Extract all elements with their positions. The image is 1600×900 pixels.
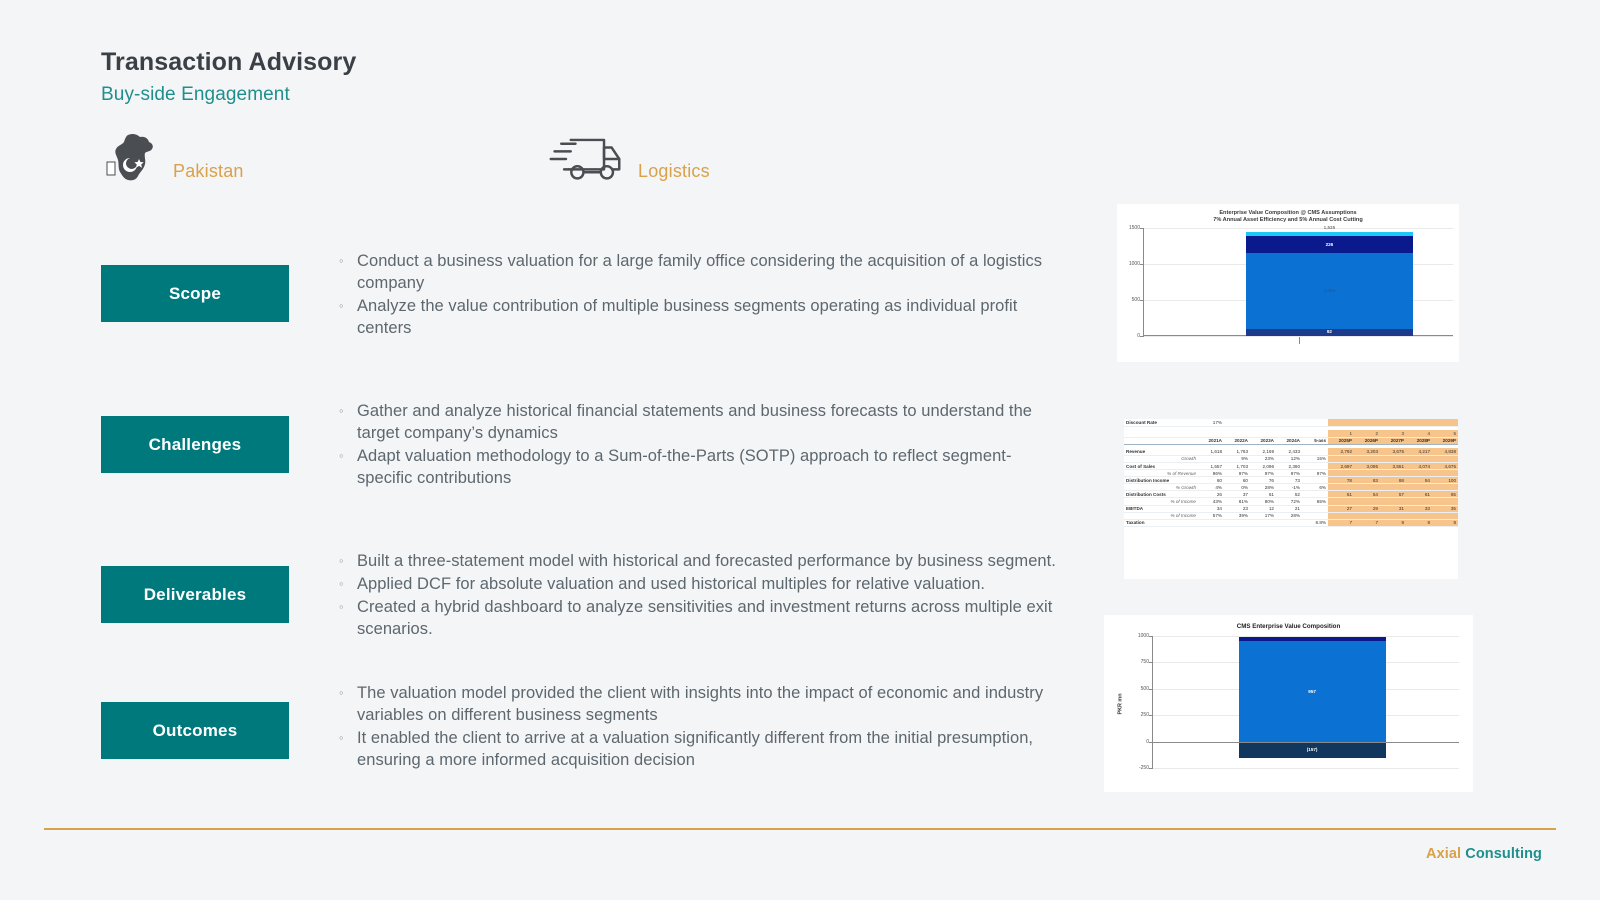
meta-industry: Logistics <box>546 126 710 190</box>
table-cell <box>1406 498 1432 505</box>
table-cell: 6% <box>1302 484 1328 491</box>
brand-logo-second: Consulting <box>1465 846 1542 862</box>
chart-title-line1: Enterprise Value Composition @ CMS Assum… <box>1117 210 1459 217</box>
table-cell: 2,169 <box>1250 448 1276 455</box>
table: Discount Rate17%123452021A2022A2023A2024… <box>1124 419 1458 527</box>
x-axis-tick <box>1299 336 1300 344</box>
y-axis-tick-label: 500 <box>1132 297 1140 303</box>
y-axis-tick-mark <box>1149 636 1153 637</box>
gridline <box>1144 336 1453 337</box>
row-header: % Growth <box>1124 484 1198 491</box>
table-cell <box>1224 430 1250 437</box>
table-row: % of Income43%61%80%72%65% <box>1124 498 1458 505</box>
page-header: Transaction Advisory Buy-side Engagement <box>101 48 356 106</box>
table-row: % of Income57%39%17%28% <box>1124 512 1458 519</box>
bullet-icon: ◦ <box>339 250 357 272</box>
table-cell: 1 <box>1328 430 1354 437</box>
table-cell: 78 <box>1328 477 1354 484</box>
table-cell: 57% <box>1198 512 1224 519</box>
table-cell: 8.8% <box>1302 519 1328 526</box>
table-cell: 61 <box>1406 491 1432 498</box>
table-cell: 97% <box>1276 470 1302 477</box>
section-tag-outcomes[interactable]: Outcomes <box>101 702 289 759</box>
table-row: Distribution Costs263761525154576165 <box>1124 491 1458 498</box>
bullet-text: Applied DCF for absolute valuation and u… <box>357 573 985 595</box>
table-cell: 2,096 <box>1250 462 1276 469</box>
table-cell: 9% <box>1224 455 1250 462</box>
table-row: EBITDA342312212729313335 <box>1124 505 1458 512</box>
table-cell: 88 <box>1380 477 1406 484</box>
table-cell: 1,618 <box>1198 448 1224 455</box>
table-cell: 2,360 <box>1276 462 1302 469</box>
bar-segment-label: 92 <box>1327 329 1332 334</box>
y-axis-tick-label: 1000 <box>1129 261 1140 267</box>
table-cell <box>1302 448 1328 455</box>
table-cell: 96% <box>1198 470 1224 477</box>
y-axis-ticks: -25002505007501000 <box>1126 636 1152 768</box>
page-title: Transaction Advisory <box>101 48 356 77</box>
section-bullets-deliverables: ◦ Built a three-statement model with his… <box>339 550 1061 641</box>
table-cell: 3 <box>1380 430 1406 437</box>
bullet-text: The valuation model provided the client … <box>357 682 1061 726</box>
bullet-text: It enabled the client to arrive at a val… <box>357 727 1061 771</box>
table-cell: 83 <box>1354 477 1380 484</box>
gridline <box>1153 768 1459 769</box>
table-cell: 4,074 <box>1406 462 1432 469</box>
row-header: % of Income <box>1124 498 1198 505</box>
column-header: 2027P <box>1380 437 1406 444</box>
table-cell: 3,095 <box>1354 462 1380 469</box>
bar-segment[interactable]: 226 <box>1246 236 1413 252</box>
table-cell: 28% <box>1276 512 1302 519</box>
table-cell <box>1354 419 1380 426</box>
y-axis-tick-label: -250 <box>1139 765 1149 771</box>
y-axis-tick-mark <box>1140 228 1144 229</box>
list-item: ◦ Adapt valuation methodology to a Sum-o… <box>339 445 1061 489</box>
y-axis-tick-label: 750 <box>1141 659 1149 665</box>
bullet-text: Analyze the value contribution of multip… <box>357 295 1061 339</box>
table-cell <box>1276 430 1302 437</box>
y-axis-tick-mark <box>1149 715 1153 716</box>
table-cell: 76 <box>1250 477 1276 484</box>
bar-segment-label: 957 <box>1308 689 1316 694</box>
table-cell <box>1328 512 1354 519</box>
table-cell: 8 <box>1432 519 1458 526</box>
table-cell: -1% <box>1276 484 1302 491</box>
table-cell <box>1302 491 1328 498</box>
table-cell: 27 <box>1328 505 1354 512</box>
table-row: Discount Rate17% <box>1124 419 1458 426</box>
table-cell: 7 <box>1354 519 1380 526</box>
y-axis-tick-mark <box>1140 264 1144 265</box>
table-cell <box>1276 519 1302 526</box>
table-cell: 65 <box>1432 491 1458 498</box>
bullet-icon: ◦ <box>339 727 357 749</box>
table-cell <box>1354 512 1380 519</box>
table-cell: 3,203 <box>1354 448 1380 455</box>
table-cell: 60 <box>1224 477 1250 484</box>
table-cell <box>1302 462 1328 469</box>
table-cell: 29 <box>1354 505 1380 512</box>
table-cell: 8 <box>1380 519 1406 526</box>
table-cell: 1,763 <box>1224 448 1250 455</box>
table-cell <box>1432 470 1458 477</box>
table-cell: 61% <box>1224 498 1250 505</box>
table-row: Growth9%23%12%15% <box>1124 455 1458 462</box>
table-cell <box>1406 419 1432 426</box>
bar-segment[interactable]: 1,066 <box>1246 253 1413 330</box>
page-subtitle: Buy-side Engagement <box>101 84 356 106</box>
table-cell: 80% <box>1250 498 1276 505</box>
column-header: 2028P <box>1406 437 1432 444</box>
meta-country: Pakistan <box>101 126 244 190</box>
list-item: ◦ Conduct a business valuation for a lar… <box>339 250 1061 294</box>
table-cell <box>1354 470 1380 477</box>
table-cell: 17% <box>1250 512 1276 519</box>
table-cell: 34 <box>1198 505 1224 512</box>
table-cell: 33 <box>1406 505 1432 512</box>
table-cell: 2,433 <box>1276 448 1302 455</box>
table-cell: 7 <box>1328 519 1354 526</box>
y-axis-tick-label: 250 <box>1141 712 1149 718</box>
chart-subtitle-line2: 7% Annual Asset Efficiency and 5% Annual… <box>1117 217 1459 224</box>
engagement-meta-row: Pakistan Logistics <box>101 126 1001 190</box>
table-cell <box>1198 455 1224 462</box>
slide-root: Transaction Advisory Buy-side Engagement… <box>0 0 1600 900</box>
bullet-text: Gather and analyze historical financial … <box>357 400 1061 444</box>
bar-segment-label: 226 <box>1326 242 1334 247</box>
bar-segment[interactable]: (157) <box>1239 742 1386 759</box>
chart-enterprise-value-cms-assumptions[interactable]: Enterprise Value Composition @ CMS Assum… <box>1117 204 1459 362</box>
zero-line <box>1153 742 1459 743</box>
section-bullets-challenges: ◦ Gather and analyze historical financia… <box>339 400 1061 490</box>
meta-country-label: Pakistan <box>173 161 244 182</box>
bullet-icon: ◦ <box>339 445 357 467</box>
table-cell: 4,675 <box>1432 462 1458 469</box>
table-cell: 15% <box>1302 455 1328 462</box>
table-cell <box>1354 484 1380 491</box>
bullet-icon: ◦ <box>339 400 357 422</box>
bullet-text: Built a three-statement model with histo… <box>357 550 1056 572</box>
stacked-bar[interactable]: 921,0662261,525 <box>1246 228 1413 336</box>
y-axis-tick-mark <box>1149 689 1153 690</box>
table-cell: 12% <box>1276 455 1302 462</box>
table-cell <box>1432 498 1458 505</box>
table-cell <box>1328 419 1354 426</box>
table-cell <box>1380 512 1406 519</box>
table-cell <box>1432 419 1458 426</box>
column-header: 2025P <box>1328 437 1354 444</box>
table-cell: 52 <box>1276 491 1302 498</box>
bullet-icon: ◦ <box>339 573 357 595</box>
row-header: EBITDA <box>1124 505 1198 512</box>
table-cell <box>1198 430 1224 437</box>
table-cell <box>1328 470 1354 477</box>
table-cell: 97% <box>1302 470 1328 477</box>
chart-plot-wrapper: -25002505007501000 (157)957 <box>1126 636 1465 776</box>
y-axis-label: PKR mn <box>1117 693 1123 714</box>
table-cell <box>1406 484 1432 491</box>
bar-segment[interactable]: 957 <box>1239 641 1386 742</box>
y-axis-tick-label: 1500 <box>1129 225 1140 231</box>
discount-rate-label: Discount Rate <box>1124 419 1198 426</box>
section-tag-deliverables[interactable]: Deliverables <box>101 566 289 623</box>
stacked-bar[interactable]: (157)957 <box>1239 636 1386 768</box>
chart-plot-wrapper: 050010001500 921,0662261,525 <box>1117 228 1459 346</box>
table-cell: 61 <box>1250 491 1276 498</box>
table-row: % of Revenue96%97%97%97%97% <box>1124 470 1458 477</box>
list-item: ◦ It enabled the client to arrive at a v… <box>339 727 1061 771</box>
table-cell <box>1380 455 1406 462</box>
chart-title: Enterprise Value Composition @ CMS Assum… <box>1117 204 1459 224</box>
table-cell: 2,792 <box>1328 448 1354 455</box>
table-cell: 1,557 <box>1198 462 1224 469</box>
table-cell: 28% <box>1250 484 1276 491</box>
bar-segment-label: 1,066 <box>1324 288 1336 293</box>
table-cell <box>1380 484 1406 491</box>
table-cell <box>1406 470 1432 477</box>
row-header: Taxation <box>1124 519 1198 526</box>
table-cell: 0% <box>1224 484 1250 491</box>
y-axis-tick-mark <box>1140 300 1144 301</box>
column-header: 2024A <box>1276 437 1302 444</box>
table-cell <box>1380 419 1406 426</box>
table-cell: 73 <box>1276 477 1302 484</box>
table-row: Taxation8.8%77888 <box>1124 519 1458 526</box>
table-row: Cost of Sales1,5571,7032,0962,3602,6973,… <box>1124 462 1458 469</box>
table-cell: 43% <box>1198 498 1224 505</box>
section-bullets-outcomes: ◦ The valuation model provided the clien… <box>339 682 1061 772</box>
row-header: Distribution Income <box>1124 477 1198 484</box>
table-cell <box>1380 498 1406 505</box>
table-cell <box>1302 419 1328 426</box>
column-header: 2023A <box>1250 437 1276 444</box>
y-axis-tick-label: 1000 <box>1138 633 1149 639</box>
y-axis-tick-label: 500 <box>1141 686 1149 692</box>
table-cell: 4,838 <box>1432 448 1458 455</box>
table-cell <box>1432 455 1458 462</box>
column-header <box>1124 437 1198 444</box>
y-axis-tick-mark <box>1149 768 1153 769</box>
bar-segment[interactable] <box>1239 637 1386 640</box>
table-header-row: 2021A2022A2023A2024A5-ass2025P2026P2027P… <box>1124 437 1458 444</box>
bullet-icon: ◦ <box>339 550 357 572</box>
table-cell: 100 <box>1432 477 1458 484</box>
table-cell <box>1406 512 1432 519</box>
table-row: Distribution Income6060767378838894100 <box>1124 477 1458 484</box>
table-cell <box>1250 430 1276 437</box>
brand-logo: Axial Consulting <box>1426 846 1542 862</box>
table-cell <box>1328 455 1354 462</box>
table-cell: 37 <box>1224 491 1250 498</box>
list-item: ◦ Created a hybrid dashboard to analyze … <box>339 596 1061 640</box>
list-item: ◦ The valuation model provided the clien… <box>339 682 1061 726</box>
y-axis-ticks: 050010001500 <box>1117 228 1143 336</box>
table-cell: 3,675 <box>1380 448 1406 455</box>
table-cell <box>1198 519 1224 526</box>
table-cell <box>1250 519 1276 526</box>
bar-segment[interactable]: 92 <box>1246 329 1413 336</box>
table-cell <box>1276 419 1302 426</box>
table-cell: 26 <box>1198 491 1224 498</box>
table-row: Revenue1,6181,7632,1692,4332,7923,2033,6… <box>1124 448 1458 455</box>
row-header: % of Income <box>1124 512 1198 519</box>
bar-segment[interactable] <box>1246 232 1413 236</box>
column-header: 5-ass <box>1302 437 1328 444</box>
list-item: ◦ Built a three-statement model with his… <box>339 550 1061 572</box>
table-cell: 5 <box>1432 430 1458 437</box>
list-item: ◦ Gather and analyze historical financia… <box>339 400 1061 444</box>
table-cell <box>1328 484 1354 491</box>
row-header: Distribution Costs <box>1124 491 1198 498</box>
table-index-row: 12345 <box>1124 430 1458 437</box>
table-cell: 8 <box>1406 519 1432 526</box>
table-cell <box>1328 498 1354 505</box>
y-axis-tick-mark <box>1140 336 1144 337</box>
table-cell <box>1302 505 1328 512</box>
column-header: 2022A <box>1224 437 1250 444</box>
table-cell <box>1302 430 1328 437</box>
table-cell: 57 <box>1380 491 1406 498</box>
financial-model-table[interactable]: Discount Rate17%123452021A2022A2023A2024… <box>1124 419 1458 579</box>
y-axis-tick-mark <box>1149 662 1153 663</box>
plot-area: (157)957 <box>1153 636 1459 768</box>
table-cell: 3,551 <box>1380 462 1406 469</box>
footer-divider <box>44 828 1556 830</box>
row-header: % of Revenue <box>1124 470 1198 477</box>
table-row: % Growth4%0%28%-1%6% <box>1124 484 1458 491</box>
column-header: 2026P <box>1354 437 1380 444</box>
column-header: 2021A <box>1198 437 1224 444</box>
chart-title: CMS Enterprise Value Composition <box>1104 615 1473 630</box>
table-cell <box>1432 484 1458 491</box>
table-cell: 21 <box>1276 505 1302 512</box>
meta-industry-label: Logistics <box>638 161 710 182</box>
table-cell: 51 <box>1328 491 1354 498</box>
table-cell <box>1432 512 1458 519</box>
bar-segment-label: (157) <box>1307 747 1318 752</box>
section-tag-challenges[interactable]: Challenges <box>101 416 289 473</box>
column-header: 2029P <box>1432 437 1458 444</box>
delivery-truck-icon <box>546 127 624 189</box>
table-cell: 4% <box>1198 484 1224 491</box>
row-header: Growth <box>1124 455 1198 462</box>
table-cell <box>1302 512 1328 519</box>
table-cell: 39% <box>1224 512 1250 519</box>
chart-cms-enterprise-value-composition[interactable]: CMS Enterprise Value Composition PKR mn … <box>1104 615 1473 792</box>
table-cell <box>1224 519 1250 526</box>
bullet-text: Adapt valuation methodology to a Sum-of-… <box>357 445 1061 489</box>
table-cell <box>1354 498 1380 505</box>
row-header: Revenue <box>1124 448 1198 455</box>
section-bullets-scope: ◦ Conduct a business valuation for a lar… <box>339 250 1061 340</box>
table-cell: 2 <box>1354 430 1380 437</box>
brand-logo-first: Axial <box>1426 846 1461 862</box>
table-cell: 4,217 <box>1406 448 1432 455</box>
bar-total-label: 1,525 <box>1246 225 1413 230</box>
discount-rate-value: 17% <box>1198 419 1224 426</box>
plot-area: 921,0662261,525 <box>1144 228 1453 336</box>
table-cell: 35 <box>1432 505 1458 512</box>
table-cell: 12 <box>1250 505 1276 512</box>
section-tag-scope[interactable]: Scope <box>101 265 289 322</box>
table-cell: 4 <box>1406 430 1432 437</box>
table-cell <box>1250 419 1276 426</box>
table-cell <box>1406 455 1432 462</box>
bullet-icon: ◦ <box>339 682 357 704</box>
table-cell: 31 <box>1380 505 1406 512</box>
table-cell <box>1380 470 1406 477</box>
table-cell: 23% <box>1250 455 1276 462</box>
row-header: Cost of Sales <box>1124 462 1198 469</box>
bullet-text: Created a hybrid dashboard to analyze se… <box>357 596 1061 640</box>
pakistan-map-icon <box>101 127 163 189</box>
table-cell: 60 <box>1198 477 1224 484</box>
table-cell: 1,703 <box>1224 462 1250 469</box>
table-cell: 2,697 <box>1328 462 1354 469</box>
bullet-icon: ◦ <box>339 596 357 618</box>
table-cell <box>1124 430 1198 437</box>
list-item: ◦ Analyze the value contribution of mult… <box>339 295 1061 339</box>
table-cell: 72% <box>1276 498 1302 505</box>
table-cell: 97% <box>1250 470 1276 477</box>
table-cell: 23 <box>1224 505 1250 512</box>
list-item: ◦ Applied DCF for absolute valuation and… <box>339 573 1061 595</box>
table-cell: 94 <box>1406 477 1432 484</box>
bullet-icon: ◦ <box>339 295 357 317</box>
table-cell <box>1354 455 1380 462</box>
table-cell <box>1302 477 1328 484</box>
bullet-text: Conduct a business valuation for a large… <box>357 250 1061 294</box>
table-cell: 65% <box>1302 498 1328 505</box>
table-cell: 54 <box>1354 491 1380 498</box>
table-cell <box>1224 419 1250 426</box>
table-cell: 97% <box>1224 470 1250 477</box>
